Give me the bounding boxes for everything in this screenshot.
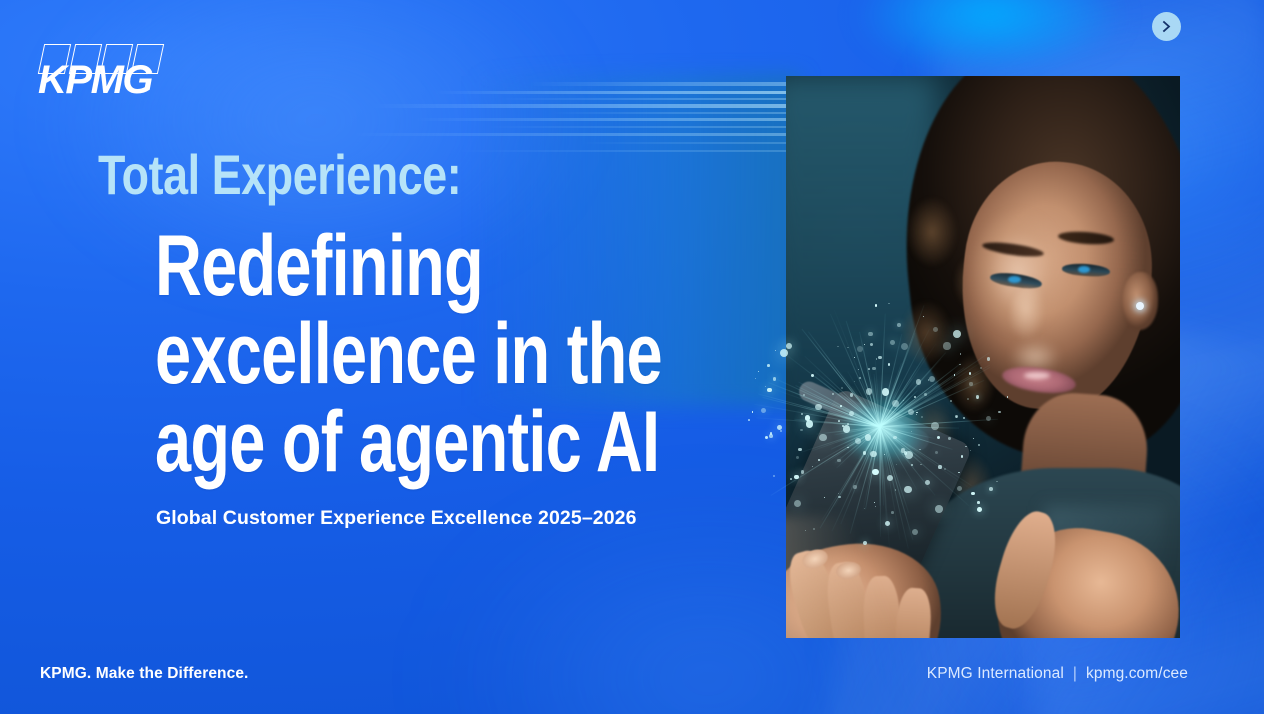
kpmg-logo-wordmark: KPMG	[38, 60, 152, 100]
hero-eyebrow: Total Experience:	[98, 146, 461, 205]
hero-photo-composition	[786, 76, 1180, 638]
footer-attribution: KPMG International | kpmg.com/cee	[927, 665, 1188, 683]
headline-line-1: Redefining	[155, 222, 662, 310]
hero-headline: Redefining excellence in the age of agen…	[155, 222, 662, 486]
footer-url[interactable]: kpmg.com/cee	[1086, 665, 1188, 683]
footer-separator: |	[1073, 665, 1077, 683]
footer-tagline: KPMG. Make the Difference.	[40, 665, 248, 683]
footer-org: KPMG International	[927, 665, 1064, 683]
chevron-right-icon	[1159, 19, 1174, 34]
hero-subtitle: Global Customer Experience Excellence 20…	[156, 507, 637, 530]
headline-line-2: excellence in the	[155, 310, 662, 398]
kpmg-logo: KPMG	[38, 44, 164, 96]
slide-root: KPMG	[0, 0, 1264, 714]
next-slide-button[interactable]	[1152, 12, 1181, 41]
hero-image	[786, 76, 1180, 638]
headline-line-3: age of agentic AI	[155, 398, 662, 486]
